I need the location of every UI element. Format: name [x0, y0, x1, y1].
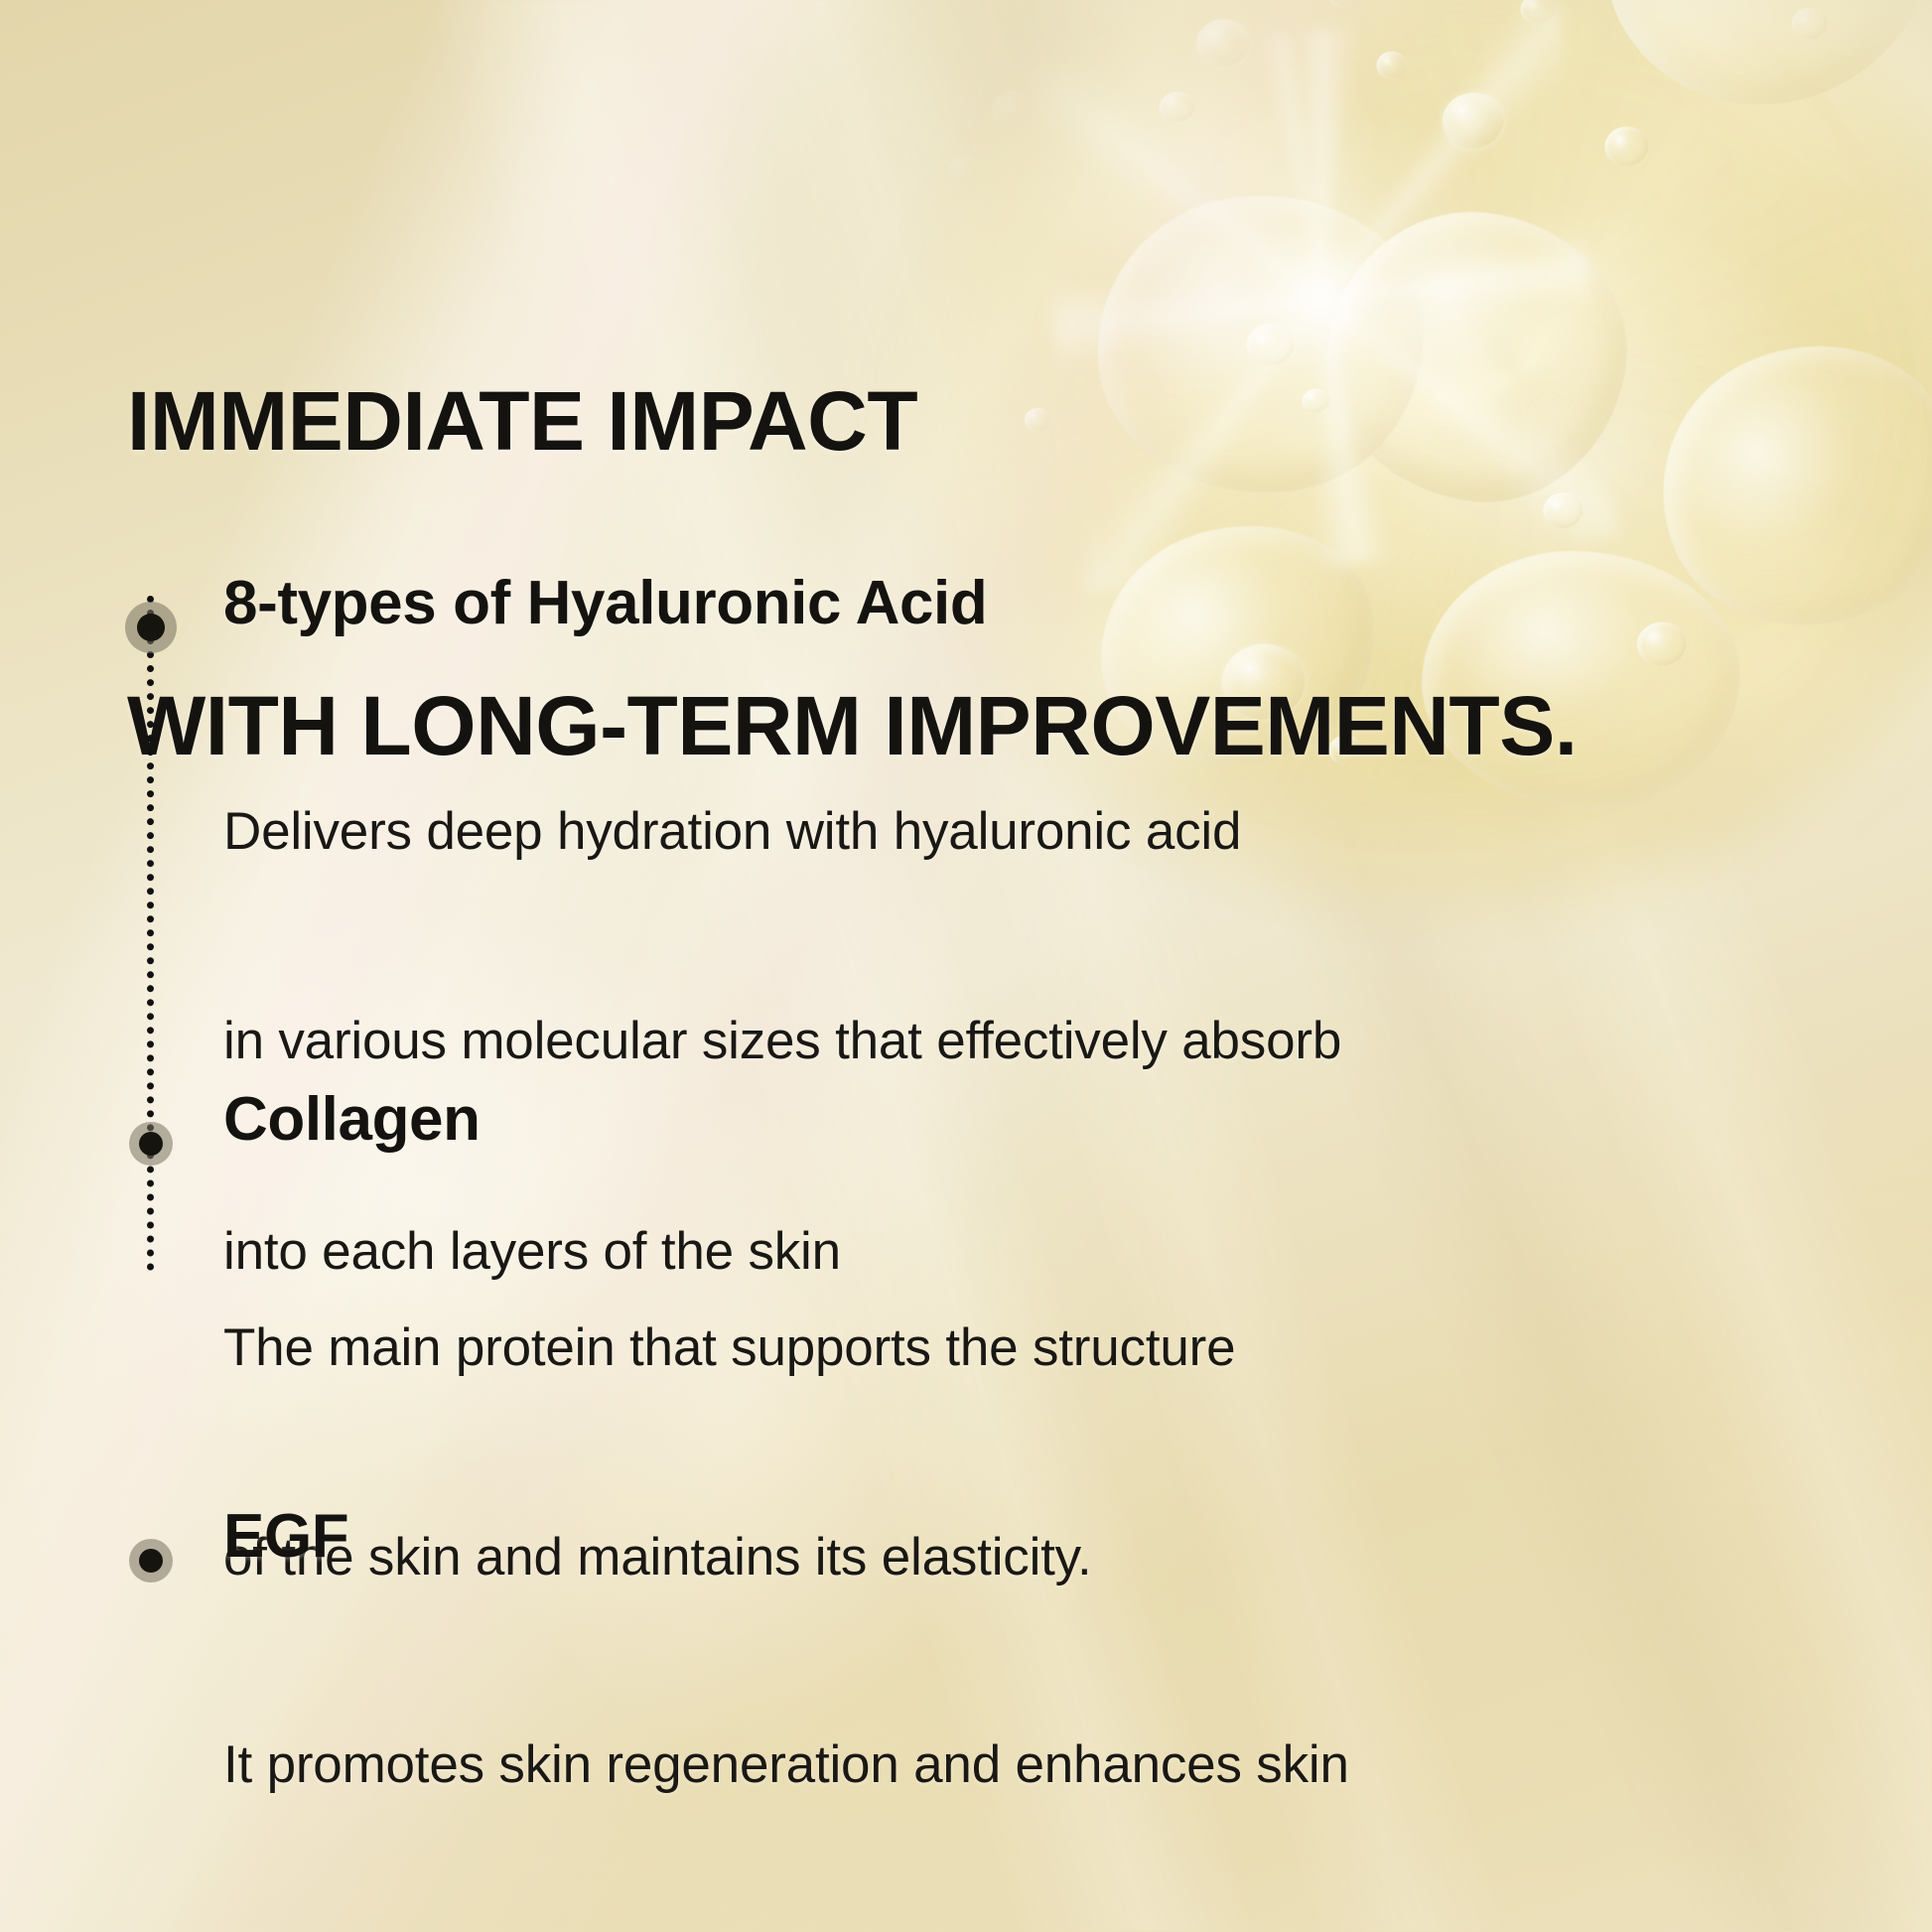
bullet-dot-icon	[139, 1549, 163, 1573]
feature-title: 8-types of Hyaluronic Acid	[223, 568, 987, 638]
feature-description-line: It promotes skin regeneration and enhanc…	[223, 1730, 1510, 1800]
feature-description-line: of the skin and maintains its elasticity…	[223, 1523, 1235, 1592]
feature-description-line: in various molecular sizes that effectiv…	[223, 1007, 1341, 1076]
bullet-marker-icon	[119, 596, 183, 659]
bullet-marker-icon	[119, 1529, 183, 1592]
feature-description: It promotes skin regeneration and enhanc…	[223, 1590, 1510, 1932]
feature-title: Collagen	[223, 1084, 481, 1155]
bullet-dot-icon	[139, 1132, 163, 1156]
feature-description-line: Delivers deep hydration with hyaluronic …	[223, 797, 1341, 867]
product-feature-poster: IMMEDIATE IMPACT WITH LONG-TERM IMPROVEM…	[0, 0, 1932, 1932]
bullet-dot-icon	[137, 614, 165, 641]
feature-title: EGF	[223, 1501, 348, 1572]
headline-line-1: IMMEDIATE IMPACT	[127, 370, 1578, 472]
feature-description-line: The main protein that supports the struc…	[223, 1313, 1235, 1383]
bullet-marker-icon	[119, 1112, 183, 1175]
